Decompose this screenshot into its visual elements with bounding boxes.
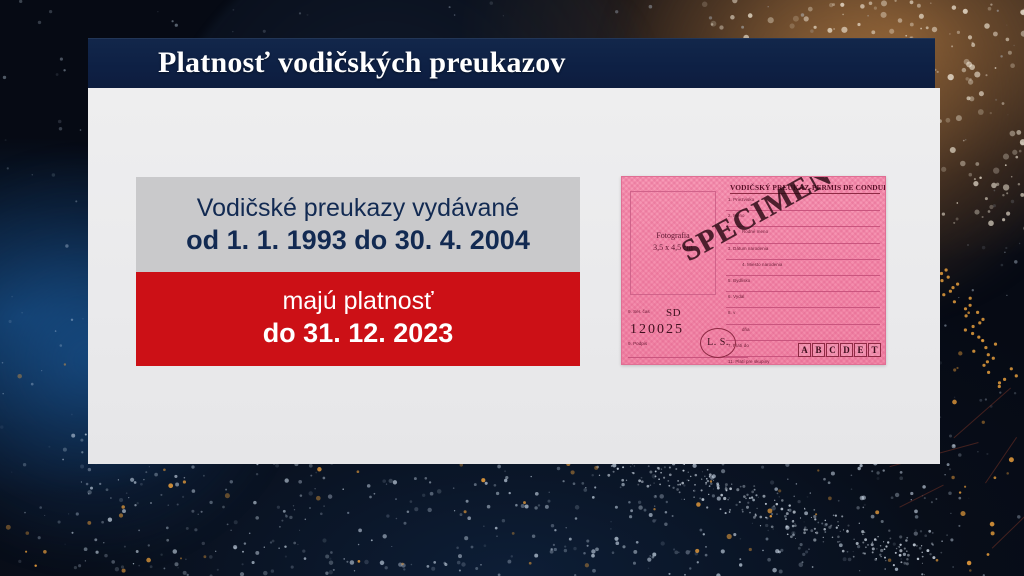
licence-field-row: 4. Miesto narodenia	[726, 260, 880, 276]
valid-until-line2: do 31. 12. 2023	[150, 317, 566, 351]
licence-field-row: 2. Meno	[726, 211, 880, 227]
licence-photo-box: Fotografia 3,5 x 4,5 cm	[630, 191, 716, 295]
issued-period-block: Vodičské preukazy vydávané od 1. 1. 1993…	[136, 177, 580, 272]
licence-field-row: Rodné meno	[726, 227, 880, 243]
licence-category-box: D	[840, 343, 853, 357]
licence-field-label: 11. Platí pre skupiny	[728, 359, 770, 364]
broadcast-graphic-frame: Platnosť vodičských preukazov Vodičské p…	[0, 0, 1024, 576]
licence-field-row: 11. Platí pre skupiny	[726, 357, 880, 365]
validity-callout: Vodičské preukazy vydávané od 1. 1. 1993…	[136, 177, 580, 366]
licence-serial-prefix: SD	[666, 307, 681, 319]
licence-seal-circle: L. S.	[700, 328, 736, 358]
licence-photo-word: Fotografia	[631, 230, 715, 242]
licence-field-label: Rodné meno	[742, 229, 768, 234]
licence-card-title: VODIČSKÝ PREUKAZ-PERMIS DE CONDUIRE	[730, 183, 880, 194]
licence-category-box: B	[812, 343, 825, 357]
page-title: Platnosť vodičských preukazov	[158, 46, 566, 80]
licence-signature-label: 9. Podpis	[628, 341, 647, 346]
licence-photo-size: 3,5 x 4,5 cm	[631, 242, 715, 254]
licence-category-box: C	[826, 343, 839, 357]
licence-field-row: dňa	[726, 325, 880, 341]
licence-category-box: A	[798, 343, 811, 357]
licence-field-label: 3. Dátum narodenia	[728, 246, 768, 251]
header-bar: Platnosť vodičských preukazov	[88, 38, 935, 88]
valid-until-line1: majú platnosť	[150, 286, 566, 317]
licence-serial-number: 120025	[630, 322, 684, 338]
licence-field-lines: 1. Priezvisko2. MenoRodné meno3. Dátum n…	[726, 195, 880, 365]
licence-category-box: T	[868, 343, 881, 357]
licence-field-label: 2. Meno	[728, 213, 745, 218]
licence-category-box: E	[854, 343, 867, 357]
licence-photo-label: Fotografia 3,5 x 4,5 cm	[631, 230, 715, 254]
issued-period-line2: od 1. 1. 1993 do 30. 4. 2004	[150, 224, 566, 258]
licence-field-label: dňa	[742, 327, 750, 332]
licence-signature-line	[628, 357, 748, 358]
issued-period-line1: Vodičské preukazy vydávané	[150, 193, 566, 224]
licence-field-row: 5. Bydlisko	[726, 276, 880, 292]
licence-category-boxes: ABCDET	[798, 343, 881, 357]
licence-field-label: 1. Priezvisko	[728, 197, 754, 202]
valid-until-block: majú platnosť do 31. 12. 2023	[136, 272, 580, 366]
driving-licence-card: VODIČSKÝ PREUKAZ-PERMIS DE CONDUIRE Foto…	[621, 176, 886, 365]
licence-field-row: 6. Vydal	[726, 292, 880, 308]
licence-field-row: 1. Priezvisko	[726, 195, 880, 211]
licence-serial-label: 9. Ser. čas	[628, 309, 650, 314]
licence-field-row: 8. v	[726, 308, 880, 324]
content-panel: Vodičské preukazy vydávané od 1. 1. 1993…	[88, 88, 940, 464]
licence-field-label: 4. Miesto narodenia	[742, 262, 782, 267]
licence-field-label: 6. Vydal	[728, 294, 745, 299]
licence-field-label: 5. Bydlisko	[728, 278, 750, 283]
licence-field-row: 3. Dátum narodenia	[726, 244, 880, 260]
licence-field-label: 8. v	[728, 310, 735, 315]
